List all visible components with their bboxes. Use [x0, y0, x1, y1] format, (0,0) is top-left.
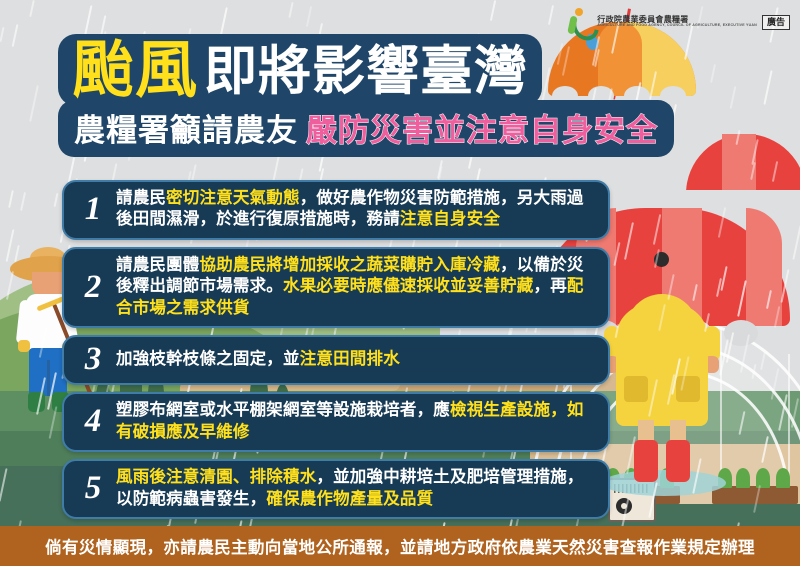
- advice-text-plain: 請農民: [116, 189, 166, 207]
- advice-item-5: 5風雨後注意清園、排除積水，並加強中耕培土及肥培管理措施，以防範病蟲害發生，確保…: [62, 459, 610, 519]
- raincoat-pocket-left: [624, 376, 648, 402]
- advice-text-plain: 加強枝幹枝條之固定，並: [116, 350, 300, 368]
- page-title-highlight: 颱風: [72, 40, 198, 102]
- advice-item-text: 請農民團體協助農民將增加採收之蔬菜購貯入庫冷藏，以備於災後釋出調節市場需求。水果…: [116, 255, 596, 319]
- advice-text-highlight: 風雨後注意清園、排除積水: [116, 468, 316, 486]
- advice-item-number: 4: [70, 405, 116, 438]
- page-title-rest: 即將影響臺灣: [204, 45, 528, 98]
- radio-dial: [614, 496, 634, 516]
- advice-item-number: 3: [70, 343, 116, 376]
- raincoat-pocket-right: [676, 376, 700, 402]
- advice-item-2: 2請農民團體協助農民將增加採收之蔬菜購貯入庫冷藏，以備於災後釋出調節市場需求。水…: [62, 247, 610, 328]
- agency-logo: 行政院農業委員會農糧署 AGRICULTURE AND FOOD AGENCY,…: [566, 8, 790, 36]
- agency-name-en: AGRICULTURE AND FOOD AGENCY, COUNCIL OF …: [597, 24, 757, 28]
- advice-item-text: 塑膠布網室或水平棚架網室等設施栽培者，應檢視生產設施，如有破損應及早維修: [116, 400, 596, 443]
- subtitle-agency: 農糧署籲請農友: [74, 113, 298, 148]
- advice-item-1: 1請農民密切注意天氣動態，做好農作物災害防範措施，另大雨過後田間濕滑，於進行復原…: [62, 180, 610, 240]
- advice-text-highlight: 注意田間排水: [300, 350, 400, 368]
- title-row: 颱風 即將影響臺灣: [72, 40, 528, 102]
- advice-list: 1請農民密切注意天氣動態，做好農作物災害防範措施，另大雨過後田間濕滑，於進行復原…: [62, 180, 610, 519]
- advice-item-number: 1: [70, 193, 116, 226]
- advice-text-highlight: 水果必要時應儘速採收並妥善貯藏: [283, 277, 534, 295]
- advertisement-badge: 廣告: [762, 15, 790, 30]
- yellow-raincoat: [616, 304, 708, 426]
- coa-logo-icon: [566, 8, 592, 36]
- advice-item-text: 請農民密切注意天氣動態，做好農作物災害防範措施，另大雨過後田間濕滑，於進行復原措…: [116, 188, 596, 231]
- seedling-icon: [756, 468, 770, 488]
- farmer-leg-divider: [47, 360, 50, 396]
- advice-item-text: 風雨後注意清園、排除積水，並加強中耕培土及肥培管理措施，以防範病蟲害發生，確保農…: [116, 467, 596, 510]
- farmer-boot-left: [28, 392, 45, 412]
- advice-text-highlight: 注意自身安全: [400, 210, 500, 228]
- advice-text-highlight: 協助農民將增加採收之蔬菜購貯入庫冷藏: [200, 256, 501, 274]
- subtitle-plate: 農糧署籲請農友嚴防災害並注意自身安全: [58, 100, 674, 157]
- advice-item-text: 加強枝幹枝條之固定，並注意田間排水: [116, 349, 596, 370]
- footer-bar: 倘有災情顯現，亦請農民主動向當地公所通報，並請地方政府依農業天然災害查報作業規定…: [0, 526, 800, 566]
- umbrella-finial: [654, 252, 669, 267]
- footer-text: 倘有災情顯現，亦請農民主動向當地公所通報，並請地方政府依農業天然災害查報作業規定…: [45, 534, 755, 558]
- seedling-icon: [736, 468, 750, 488]
- subtitle-warning: 嚴防災害並注意自身安全: [306, 113, 658, 148]
- advice-item-3: 3加強枝幹枝條之固定，並注意田間排水: [62, 335, 610, 385]
- typhoon-advisory-poster: 颱風 即將影響臺灣 農糧署籲請農友嚴防災害並注意自身安全 行政院農業委員會農糧署…: [0, 0, 800, 566]
- corner-umbrella-panel: [722, 134, 756, 190]
- title-plate: 颱風 即將影響臺灣: [58, 34, 542, 106]
- advice-text-plain: ，再: [534, 277, 567, 295]
- advice-text-highlight: 確保農作物產量及品質: [266, 490, 433, 508]
- advice-text-plain: 塑膠布網室或水平棚架網室等設施栽培者，應: [116, 401, 450, 419]
- poster-header: 颱風 即將影響臺灣 農糧署籲請農友嚴防災害並注意自身安全: [58, 34, 622, 157]
- agency-name-block: 行政院農業委員會農糧署 AGRICULTURE AND FOOD AGENCY,…: [597, 16, 757, 28]
- seedling-icon: [776, 468, 790, 488]
- umbrella-panel: [746, 208, 782, 326]
- red-rain-boot-left: [634, 440, 658, 482]
- advice-text-plain: 請農民團體: [116, 256, 200, 274]
- red-rain-boot-right: [666, 440, 690, 482]
- advice-item-number: 2: [70, 271, 116, 304]
- advice-item-4: 4塑膠布網室或水平棚架網室等設施栽培者，應檢視生產設施，如有破損應及早維修: [62, 392, 610, 452]
- advice-item-number: 5: [70, 472, 116, 505]
- umbrella-scallop: [724, 320, 758, 346]
- corner-red-umbrella-icon: [686, 126, 800, 190]
- advice-text-highlight: 密切注意天氣動態: [166, 189, 300, 207]
- puddle-shape: [602, 470, 726, 496]
